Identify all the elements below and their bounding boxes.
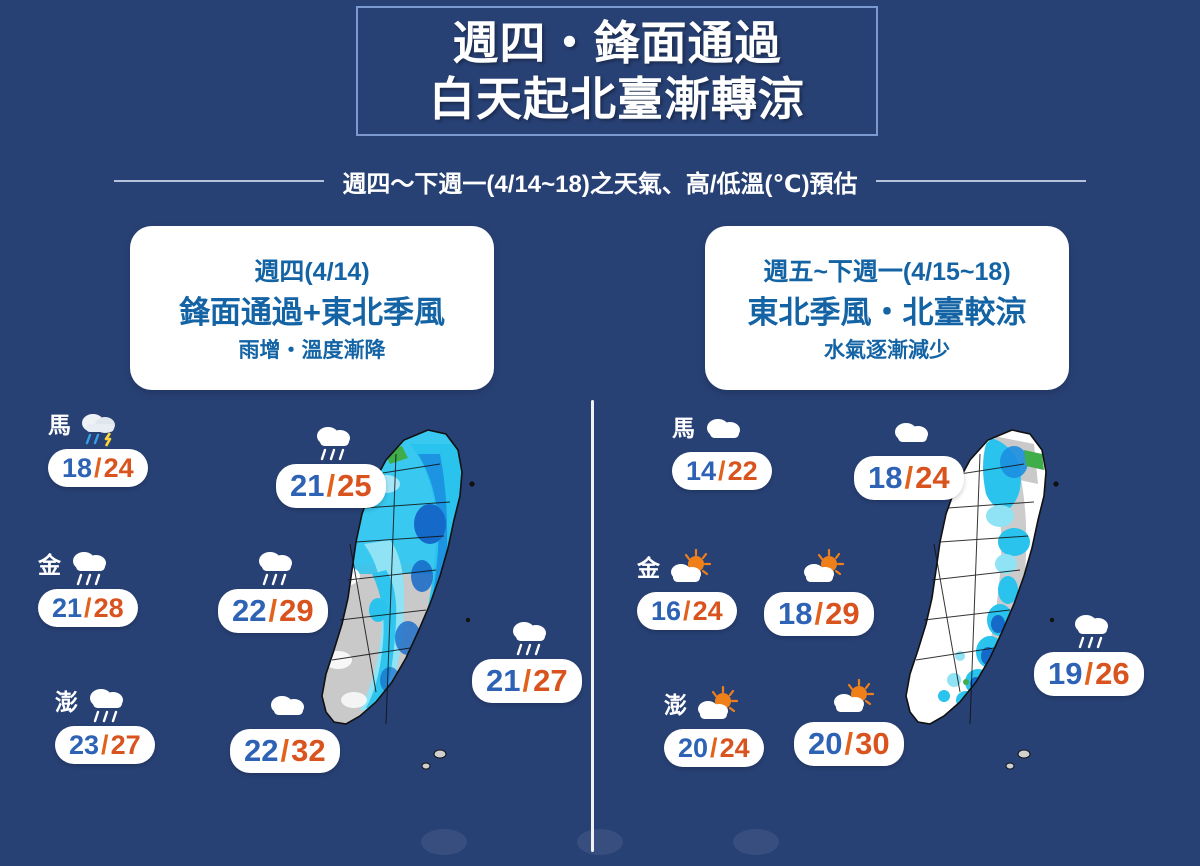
temp-separator: / [279,733,290,769]
temp-kinmen-thursday: 金 21 / 28 [38,541,138,627]
temp-pill: 19 / 26 [1034,652,1144,696]
high-temp: 27 [533,663,567,699]
temp-penghu-thursday: 澎 23 / 27 [55,678,155,764]
card-main-text: 鋒面通過+東北季風 [179,296,445,330]
subtitle-row: 週四～下週一(4/14~18)之天氣、高/低溫(℃)預估 [0,163,1200,199]
forecast-card-weekend: 週五~下週一(4/15~18) 東北季風・北臺較涼 水氣逐漸減少 [705,226,1069,390]
temp-matsu-thursday: 馬 18 / 24 [48,401,148,487]
island-label: 馬 [672,417,695,450]
low-temp: 18 [778,596,812,632]
temp-matsu-weekend: 馬 14 / 22 [672,404,772,490]
temp-pill: 20 / 30 [794,722,904,766]
temp-kinmen-weekend: 金 16 / 24 [637,544,737,630]
temp-head: 金 [38,541,138,587]
temp-pill: 18 / 24 [854,456,964,500]
rain-icon [253,545,299,587]
temp-penghu-weekend: 澎 20 / 24 [664,681,764,767]
temp-pill: 21 / 28 [38,589,138,627]
panel-divider [591,400,594,852]
panel-friday-monday: 週五~下週一(4/15~18) 東北季風・北臺較涼 水氣逐漸減少 [609,226,1200,856]
rain-icon [507,615,553,657]
temp-head [472,611,582,657]
low-temp: 18 [868,460,902,496]
infographic-canvas: 週四・鋒面通過 白天起北臺漸轉涼 週四～下週一(4/14~18)之天氣、高/低溫… [0,0,1200,866]
low-temp: 22 [232,593,266,629]
high-temp: 24 [720,733,750,764]
subtitle-rule-left [114,180,324,182]
temp-separator: / [93,453,103,484]
card-date: 週四(4/14) [254,252,369,288]
low-temp: 20 [678,733,708,764]
temp-central-weekend: 18 / 29 [764,544,874,636]
temp-separator: / [682,596,692,627]
sun-cloud-icon [693,685,739,727]
low-temp: 21 [52,593,82,624]
card-sub-text: 水氣逐漸減少 [824,334,950,364]
temp-separator: / [325,468,336,504]
panel-thursday: 週四(4/14) 鋒面通過+東北季風 雨增・溫度漸降 [0,226,591,856]
sun-cloud-icon [666,548,712,590]
subtitle-rule-right [876,180,1086,182]
high-temp: 24 [104,453,134,484]
low-temp: 23 [69,730,99,761]
temp-separator: / [813,596,824,632]
high-temp: 22 [728,456,758,487]
high-temp: 24 [693,596,723,627]
rain-icon [84,682,130,724]
temp-head [794,674,904,720]
temp-head: 馬 [48,401,148,447]
card-sub-text: 雨增・溫度漸降 [239,334,386,364]
temp-pill: 16 / 24 [637,592,737,630]
temp-head [854,408,964,454]
temp-head: 澎 [664,681,764,727]
island-label: 馬 [48,414,71,447]
temp-separator: / [83,593,93,624]
temp-separator: / [843,726,854,762]
high-temp: 24 [915,460,949,496]
card-date: 週五~下週一(4/15~18) [763,252,1010,288]
cloud-icon [889,412,935,454]
cloud-icon [265,685,311,727]
temp-south-thursday: 22 / 32 [230,681,340,773]
temp-separator: / [717,456,727,487]
subtitle-text: 週四～下週一(4/14~18)之天氣、高/低溫(℃)預估 [342,164,857,199]
temp-pill: 18 / 24 [48,449,148,487]
temp-head [218,541,328,587]
title-line-1: 週四・鋒面通過 [453,15,782,71]
temp-separator: / [709,733,719,764]
temp-head: 馬 [672,404,772,450]
temp-central-thursday: 22 / 29 [218,541,328,633]
island-label: 金 [38,554,61,587]
temp-pill: 20 / 24 [664,729,764,767]
temp-separator: / [1083,656,1094,692]
rain-icon [1069,608,1115,650]
temp-south-weekend: 20 / 30 [794,674,904,766]
temp-pill: 21 / 25 [276,464,386,508]
island-label: 澎 [55,691,78,724]
rain-icon [311,420,357,462]
temp-pill: 23 / 27 [55,726,155,764]
temp-separator: / [903,460,914,496]
island-label: 澎 [664,694,687,727]
island-label: 金 [637,557,660,590]
low-temp: 14 [686,456,716,487]
low-temp: 21 [290,468,324,504]
high-temp: 29 [279,593,313,629]
low-temp: 20 [808,726,842,762]
temp-head [764,544,874,590]
temp-north-thursday: 21 / 25 [276,416,386,508]
high-temp: 27 [111,730,141,761]
temp-pill: 22 / 29 [218,589,328,633]
low-temp: 18 [62,453,92,484]
temp-separator: / [267,593,278,629]
high-temp: 30 [855,726,889,762]
temp-head: 澎 [55,678,155,724]
title-box: 週四・鋒面通過 白天起北臺漸轉涼 [356,6,878,136]
temp-east-thursday: 21 / 27 [472,611,582,703]
high-temp: 25 [337,468,371,504]
cloud-icon [701,408,747,450]
temp-pill: 14 / 22 [672,452,772,490]
high-temp: 26 [1095,656,1129,692]
forecast-card-thursday: 週四(4/14) 鋒面通過+東北季風 雨增・溫度漸降 [130,226,494,390]
high-temp: 29 [825,596,859,632]
temp-head [276,416,386,462]
temp-pill: 22 / 32 [230,729,340,773]
thunderstorm-icon [77,405,123,447]
title-line-2: 白天起北臺漸轉涼 [429,71,805,127]
temp-head [230,681,340,727]
low-temp: 21 [486,663,520,699]
sun-cloud-icon [829,678,875,720]
sun-cloud-icon [799,548,845,590]
temp-east-weekend: 19 / 26 [1034,604,1144,696]
high-temp: 32 [291,733,325,769]
card-main-text: 東北季風・北臺較涼 [748,296,1027,330]
temp-separator: / [100,730,110,761]
temp-pill: 18 / 29 [764,592,874,636]
temp-north-weekend: 18 / 24 [854,408,964,500]
low-temp: 22 [244,733,278,769]
temp-separator: / [521,663,532,699]
temp-pill: 21 / 27 [472,659,582,703]
rain-icon [67,545,113,587]
low-temp: 19 [1048,656,1082,692]
temp-head [1034,604,1144,650]
high-temp: 28 [94,593,124,624]
temp-head: 金 [637,544,737,590]
low-temp: 16 [651,596,681,627]
